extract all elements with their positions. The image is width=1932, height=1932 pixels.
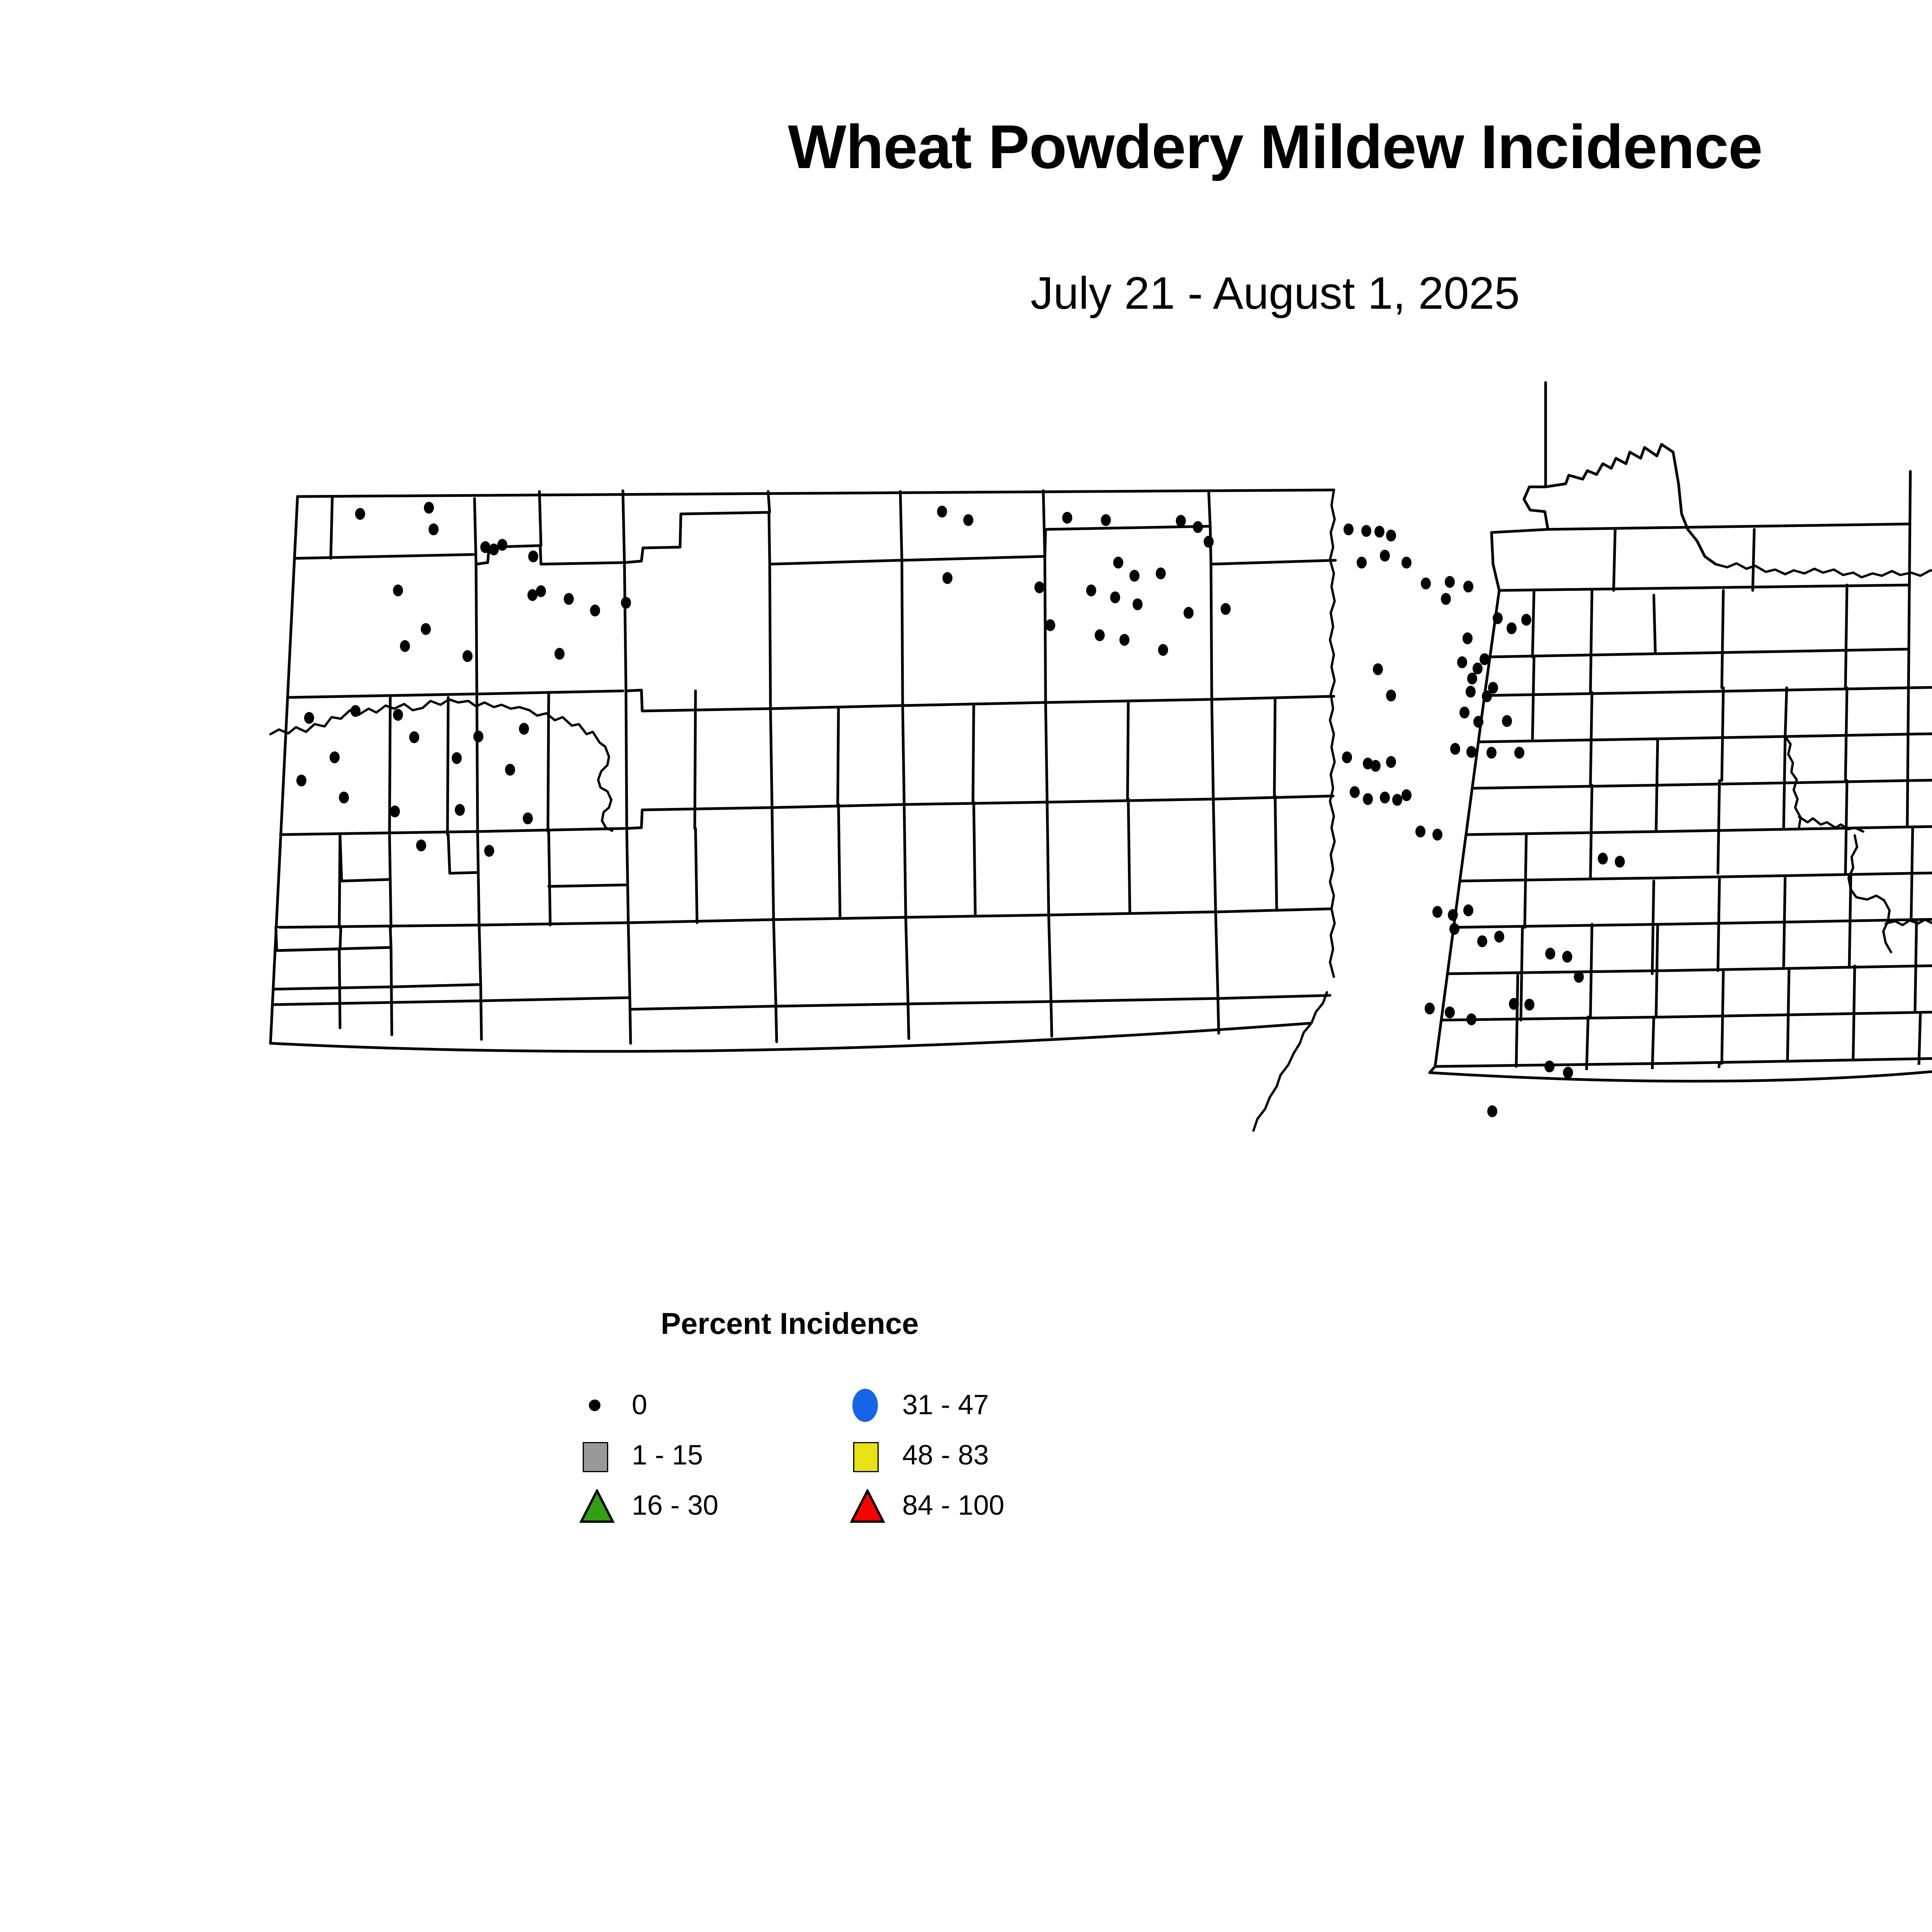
legend-symbol-triangle-green-icon bbox=[580, 1488, 614, 1522]
survey-point bbox=[1133, 599, 1143, 611]
legend-symbol-circle-blue-icon bbox=[850, 1387, 885, 1422]
survey-point bbox=[1415, 826, 1425, 838]
survey-point bbox=[424, 502, 434, 514]
legend-symbol-dot-icon bbox=[580, 1387, 614, 1422]
legend-label-1: 1 - 15 bbox=[632, 1440, 703, 1471]
survey-point bbox=[1204, 536, 1214, 548]
survey-point bbox=[1509, 998, 1519, 1010]
survey-point bbox=[1158, 644, 1168, 656]
survey-point bbox=[452, 752, 462, 764]
survey-point bbox=[1392, 794, 1402, 806]
survey-point bbox=[1463, 633, 1473, 645]
survey-point bbox=[1101, 514, 1111, 526]
survey-point bbox=[1357, 557, 1367, 569]
survey-point bbox=[1477, 935, 1487, 947]
survey-point bbox=[1401, 557, 1412, 569]
survey-point bbox=[1380, 792, 1390, 804]
survey-point bbox=[1493, 612, 1503, 624]
legend-label-3: 31 - 47 bbox=[902, 1389, 989, 1420]
survey-point bbox=[1086, 585, 1096, 597]
survey-point bbox=[1524, 999, 1534, 1011]
survey-point bbox=[350, 705, 361, 717]
survey-point bbox=[1507, 622, 1517, 634]
survey-point bbox=[1062, 512, 1072, 524]
survey-point bbox=[1373, 663, 1383, 675]
survey-point bbox=[1544, 1061, 1554, 1073]
survey-point bbox=[1521, 614, 1531, 626]
survey-point bbox=[1421, 578, 1431, 590]
page-title: Wheat Powdery Mildew Incidence bbox=[0, 116, 1932, 178]
survey-point bbox=[1034, 582, 1044, 594]
survey-point bbox=[523, 813, 533, 825]
survey-point bbox=[1156, 568, 1166, 580]
survey-point bbox=[1095, 629, 1105, 641]
survey-point bbox=[1193, 521, 1203, 533]
survey-point bbox=[1110, 592, 1120, 604]
survey-point bbox=[1371, 760, 1381, 772]
survey-point bbox=[536, 585, 546, 597]
survey-point bbox=[554, 648, 565, 660]
survey-point bbox=[1129, 570, 1139, 582]
survey-point bbox=[1401, 789, 1412, 801]
survey-point bbox=[1457, 656, 1467, 668]
map-page: Wheat Powdery Mildew Incidence July 21 -… bbox=[0, 0, 1932, 1932]
survey-point bbox=[1466, 746, 1476, 758]
survey-point bbox=[473, 731, 483, 743]
survey-point bbox=[1184, 607, 1194, 619]
survey-point bbox=[330, 752, 340, 764]
legend-symbol-square-yellow-icon bbox=[850, 1437, 885, 1472]
survey-point bbox=[455, 804, 465, 816]
survey-point bbox=[1563, 1067, 1573, 1079]
survey-point bbox=[1450, 743, 1460, 755]
survey-point bbox=[409, 731, 419, 743]
survey-point bbox=[590, 605, 600, 617]
survey-point bbox=[416, 840, 426, 852]
survey-point bbox=[497, 539, 507, 551]
survey-point bbox=[1467, 673, 1477, 685]
survey-point bbox=[528, 551, 538, 563]
survey-point bbox=[1487, 1105, 1497, 1117]
survey-point bbox=[1562, 951, 1572, 963]
survey-point bbox=[1045, 619, 1055, 631]
survey-point bbox=[1386, 530, 1396, 542]
survey-point bbox=[484, 845, 494, 857]
survey-point bbox=[1361, 525, 1371, 537]
survey-point bbox=[1466, 1014, 1476, 1026]
legend-label-4: 48 - 83 bbox=[902, 1440, 989, 1471]
survey-point bbox=[1545, 948, 1555, 960]
survey-point bbox=[1463, 905, 1473, 917]
survey-point bbox=[1480, 653, 1490, 665]
survey-point bbox=[1113, 557, 1123, 569]
survey-point bbox=[1488, 682, 1498, 694]
survey-point bbox=[304, 712, 314, 724]
survey-point bbox=[1494, 931, 1504, 943]
survey-point bbox=[463, 650, 473, 662]
survey-point bbox=[621, 597, 631, 609]
survey-point bbox=[1386, 690, 1396, 702]
survey-point bbox=[1598, 853, 1608, 865]
survey-point bbox=[1502, 715, 1512, 727]
legend-label-0: 0 bbox=[632, 1389, 647, 1420]
survey-point bbox=[505, 764, 515, 776]
survey-point bbox=[1574, 971, 1584, 983]
survey-point bbox=[1473, 663, 1483, 675]
survey-point bbox=[1432, 829, 1442, 841]
legend-symbol-square-gray-icon bbox=[580, 1437, 614, 1472]
survey-point bbox=[1445, 1007, 1455, 1019]
survey-point bbox=[1449, 923, 1459, 935]
county-boundaries bbox=[270, 383, 1932, 1179]
survey-point bbox=[1445, 576, 1455, 588]
survey-point bbox=[1374, 526, 1384, 538]
survey-point bbox=[400, 640, 410, 652]
survey-point bbox=[942, 572, 952, 584]
legend: Percent Incidence 0 1 - 15 16 - 30 31 - … bbox=[580, 1306, 1159, 1577]
survey-point bbox=[1463, 581, 1473, 593]
survey-point bbox=[564, 593, 574, 605]
survey-point bbox=[355, 508, 365, 520]
survey-point bbox=[1119, 634, 1129, 646]
survey-point bbox=[1344, 524, 1354, 536]
survey-point bbox=[1473, 716, 1483, 728]
legend-label-2: 16 - 30 bbox=[632, 1490, 718, 1521]
survey-point bbox=[1514, 747, 1524, 759]
survey-point bbox=[390, 806, 400, 818]
survey-point bbox=[1615, 856, 1625, 868]
survey-point bbox=[937, 506, 947, 518]
survey-point bbox=[1432, 906, 1442, 918]
legend-symbol-triangle-red-icon bbox=[850, 1488, 885, 1522]
survey-point bbox=[393, 709, 403, 721]
survey-point bbox=[296, 775, 306, 787]
survey-point bbox=[1342, 752, 1352, 764]
survey-point bbox=[1459, 707, 1469, 719]
survey-point bbox=[1441, 593, 1451, 605]
survey-point bbox=[421, 623, 431, 635]
page-subtitle: July 21 - August 1, 2025 bbox=[0, 270, 1932, 316]
survey-point bbox=[480, 541, 490, 553]
survey-point bbox=[339, 792, 349, 804]
legend-title: Percent Incidence bbox=[661, 1306, 1009, 1341]
survey-point bbox=[963, 514, 973, 526]
survey-point bbox=[519, 723, 529, 735]
survey-point bbox=[1448, 909, 1458, 921]
survey-point bbox=[1380, 550, 1390, 562]
survey-point bbox=[1466, 686, 1476, 698]
legend-label-5: 84 - 100 bbox=[902, 1490, 1004, 1521]
survey-point bbox=[1363, 793, 1373, 805]
survey-point bbox=[429, 524, 439, 536]
survey-point bbox=[1386, 756, 1396, 768]
survey-point bbox=[1425, 1003, 1435, 1015]
survey-point bbox=[1176, 515, 1186, 527]
survey-point bbox=[393, 585, 403, 597]
survey-point bbox=[1486, 747, 1497, 759]
survey-point bbox=[1221, 603, 1231, 615]
survey-point bbox=[1350, 786, 1360, 798]
